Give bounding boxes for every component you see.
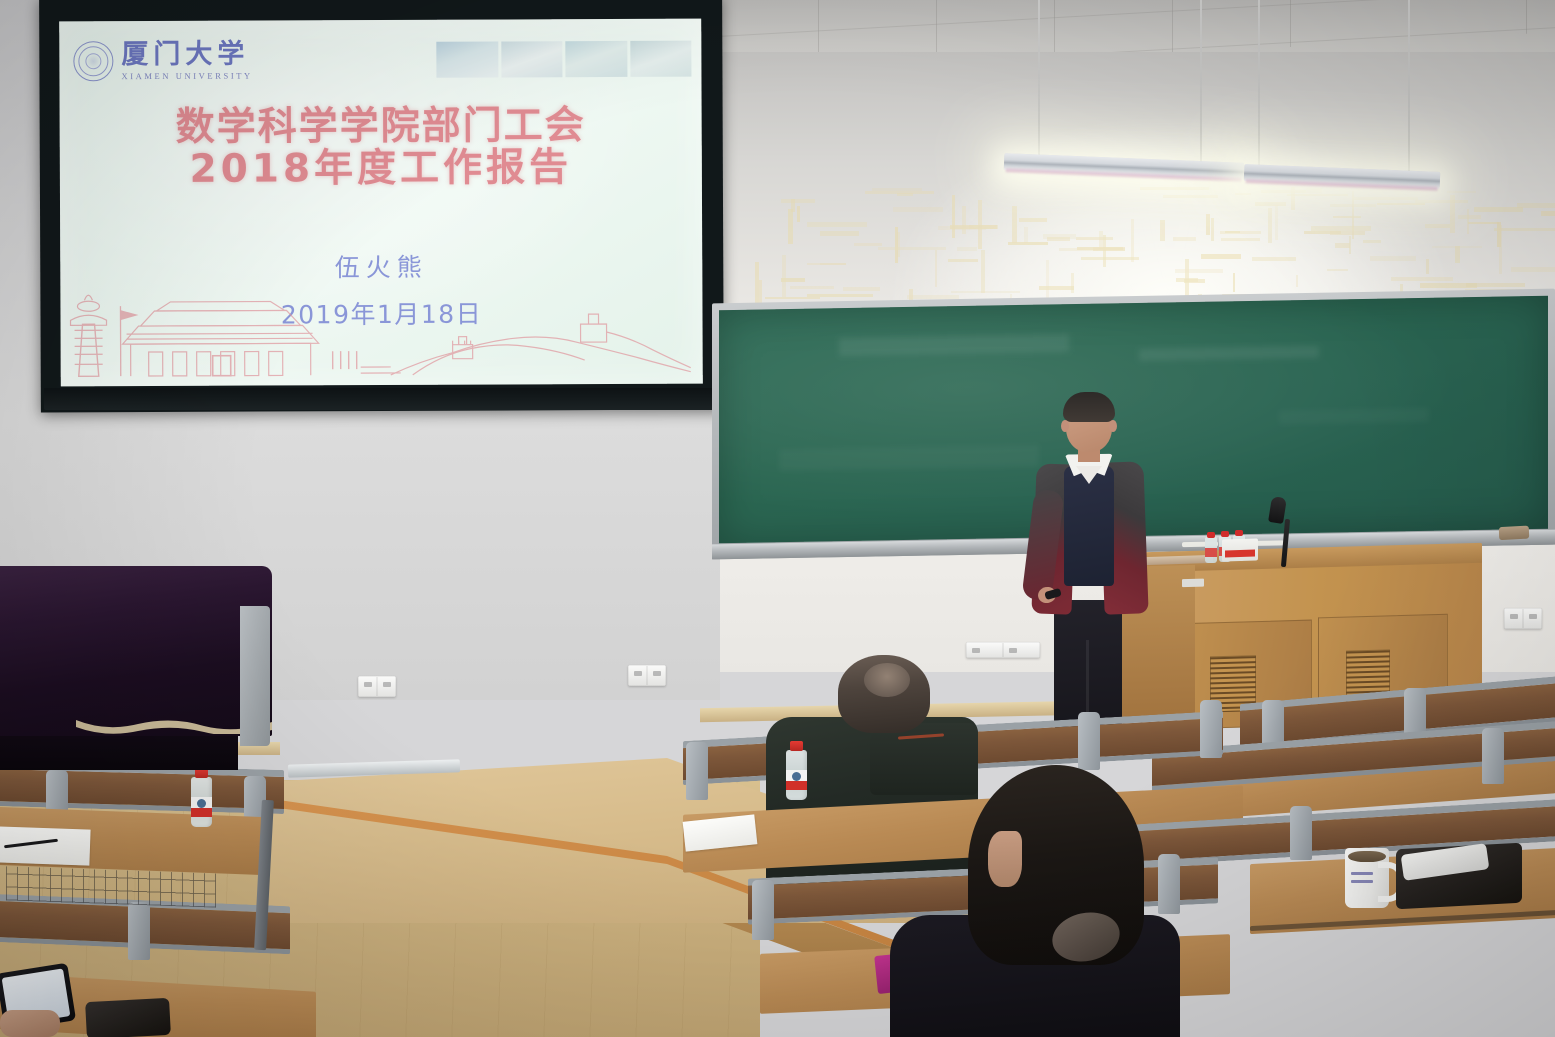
slide-artwork-landmarks bbox=[60, 276, 702, 387]
presenter-ear-right bbox=[1109, 420, 1117, 432]
power-outlet-right[interactable] bbox=[1504, 608, 1542, 629]
campus-photo-strip bbox=[436, 41, 691, 78]
wall-pattern-stroke bbox=[1275, 205, 1278, 240]
podium-label-plate bbox=[1182, 579, 1204, 588]
university-seal-icon bbox=[73, 41, 113, 81]
power-outlet-center[interactable] bbox=[628, 665, 666, 686]
wall-pattern-stroke bbox=[1377, 203, 1425, 205]
power-outlet-left[interactable] bbox=[358, 676, 396, 697]
wall-pattern-stroke bbox=[952, 195, 955, 238]
wall-pattern-stroke bbox=[950, 225, 997, 229]
bench-post bbox=[1200, 700, 1222, 758]
wall-pattern-stroke bbox=[957, 247, 977, 251]
wall-pattern-stroke bbox=[865, 191, 935, 195]
wall-pattern-stroke bbox=[1160, 220, 1164, 241]
wall-pattern-stroke bbox=[807, 263, 846, 265]
wall-pattern-stroke bbox=[1046, 260, 1049, 301]
wall-pattern-stroke bbox=[1474, 207, 1523, 212]
wall-pattern-stroke bbox=[1511, 267, 1555, 271]
bench-post bbox=[752, 880, 774, 940]
outlet-socket bbox=[628, 665, 647, 686]
wall-pattern-stroke bbox=[1494, 228, 1555, 231]
wall-pattern-stroke bbox=[797, 206, 800, 223]
slide-title: 数学科学学院部门工会 2018年度工作报告 bbox=[60, 105, 702, 192]
bench-post bbox=[1482, 728, 1504, 784]
wall-pattern-stroke bbox=[782, 255, 786, 297]
wall-pattern-stroke bbox=[935, 250, 937, 288]
outlet-socket bbox=[647, 665, 666, 686]
wall-pattern-stroke bbox=[1426, 259, 1429, 274]
light-rod-4 bbox=[1408, 0, 1410, 178]
wall-pattern-stroke bbox=[807, 222, 867, 227]
wall-pattern-stroke bbox=[1287, 194, 1348, 197]
wall-pattern-stroke bbox=[1081, 257, 1139, 259]
presenter-sweater bbox=[1064, 466, 1114, 586]
wall-pattern-stroke bbox=[962, 206, 967, 235]
wall-pattern-stroke bbox=[1291, 187, 1296, 210]
wall-pattern-stroke bbox=[893, 207, 943, 211]
bottle-label bbox=[786, 770, 807, 790]
wall-pattern-stroke bbox=[951, 291, 1020, 293]
outlet-socket bbox=[377, 676, 396, 697]
wall-pattern-stroke bbox=[759, 280, 762, 304]
wall-pattern-stroke bbox=[788, 209, 793, 244]
wall-pattern-stroke bbox=[1370, 256, 1416, 261]
wall-pattern-stroke bbox=[1176, 278, 1198, 282]
blackboard-eraser bbox=[1499, 526, 1529, 541]
lecture-hall-photo: 厦门大学 XIAMEN UNIVERSITY 数学科学学院部门工会 2018年度… bbox=[0, 0, 1555, 1037]
wall-pattern-stroke bbox=[1296, 275, 1298, 287]
wall-pattern-stroke bbox=[854, 243, 882, 246]
wall-pattern-stroke bbox=[948, 259, 978, 262]
man-bald-spot bbox=[864, 663, 910, 697]
wall-pattern-stroke bbox=[1012, 206, 1017, 244]
bench-post bbox=[686, 742, 708, 800]
campus-photo-4 bbox=[630, 41, 692, 77]
bottle-label bbox=[1205, 548, 1217, 557]
wall-pattern-stroke bbox=[1233, 273, 1235, 293]
wall-pattern-stroke bbox=[1261, 190, 1306, 193]
water-bottle-mid-desk bbox=[786, 750, 807, 800]
wall-pattern-stroke bbox=[1425, 224, 1449, 228]
wall-pattern-stroke bbox=[1349, 236, 1352, 254]
wall-pattern-stroke bbox=[1268, 208, 1272, 243]
wall-pattern-stroke bbox=[1252, 257, 1296, 262]
presenter bbox=[1018, 392, 1158, 732]
presentation-slide: 厦门大学 XIAMEN UNIVERSITY 数学科学学院部门工会 2018年度… bbox=[59, 19, 703, 387]
wall-pattern-stroke bbox=[1008, 242, 1048, 245]
wall-pattern-stroke bbox=[1327, 269, 1348, 271]
presenter-ear-left bbox=[1061, 420, 1069, 432]
tissue-box bbox=[1222, 538, 1258, 561]
wall-pattern-stroke bbox=[1093, 247, 1125, 251]
university-name-cn: 厦门大学 bbox=[121, 41, 252, 69]
wall-pattern-stroke bbox=[1140, 187, 1209, 190]
slide-title-line-1: 数学科学学院部门工会 bbox=[60, 105, 702, 150]
projection-screen-bottom-bar bbox=[44, 388, 722, 410]
wall-pattern-stroke bbox=[1335, 243, 1351, 247]
wall-pattern-stroke bbox=[1468, 222, 1499, 225]
university-logo: 厦门大学 XIAMEN UNIVERSITY bbox=[73, 41, 253, 82]
wall-pattern-stroke bbox=[1311, 226, 1371, 230]
wall-pattern-stroke bbox=[790, 286, 833, 289]
light-rod-3 bbox=[1258, 0, 1260, 170]
wall-pattern-stroke bbox=[1354, 197, 1417, 200]
university-name-en: XIAMEN UNIVERSITY bbox=[121, 71, 252, 82]
wall-pattern-stroke bbox=[807, 294, 873, 297]
woman-face bbox=[988, 831, 1022, 887]
wall-pattern-stroke bbox=[1455, 246, 1460, 264]
wall-pattern-stroke bbox=[1541, 211, 1555, 216]
wall-pattern-stroke bbox=[978, 200, 982, 250]
presenter-hair bbox=[1063, 392, 1115, 422]
wall-pattern-stroke bbox=[1363, 240, 1382, 243]
wall-pattern-stroke bbox=[1221, 238, 1260, 242]
water-bottle-left-desk bbox=[191, 777, 212, 827]
bottle-cap bbox=[790, 741, 803, 751]
bench-post bbox=[128, 902, 150, 960]
wall-pattern-stroke bbox=[895, 227, 898, 263]
wall-pattern-stroke bbox=[1333, 216, 1361, 218]
wall-pattern-stroke bbox=[1211, 218, 1214, 241]
light-rod-1 bbox=[1038, 0, 1040, 160]
bench-book-basket bbox=[6, 866, 216, 907]
wall-pattern-stroke bbox=[1175, 269, 1224, 273]
hand-holding-phone bbox=[0, 1010, 60, 1037]
audience-member-seated-woman bbox=[880, 765, 1180, 1037]
wall-pattern-stroke bbox=[1306, 188, 1322, 193]
wall-pattern-stroke bbox=[1225, 231, 1240, 233]
coffee-mug bbox=[1345, 848, 1389, 908]
wall-pattern-stroke bbox=[981, 250, 985, 293]
wall-pattern-stroke bbox=[1173, 237, 1195, 241]
wall-pattern-stroke bbox=[1466, 283, 1525, 287]
podium-bottle-1 bbox=[1205, 537, 1217, 563]
outlet-socket bbox=[358, 676, 377, 697]
wall-pattern-stroke bbox=[1467, 209, 1469, 234]
wall-pattern-stroke bbox=[1019, 218, 1047, 223]
wall-pattern-stroke bbox=[781, 278, 805, 282]
light-rod-2 bbox=[1200, 0, 1202, 166]
wall-pattern-stroke bbox=[820, 231, 859, 235]
bench-post bbox=[1290, 806, 1312, 860]
wall-pattern-stroke bbox=[1047, 237, 1069, 241]
wall-pattern-stroke bbox=[1499, 225, 1502, 274]
campus-photo-2 bbox=[501, 41, 563, 77]
black-case-foreground bbox=[85, 998, 171, 1037]
outlet-socket bbox=[1523, 608, 1542, 629]
wall-pattern-stroke bbox=[1076, 237, 1113, 240]
covered-piano bbox=[0, 566, 272, 766]
wall-pattern-stroke bbox=[843, 287, 880, 291]
slide-title-line-2: 2018年度工作报告 bbox=[60, 147, 702, 192]
wall-pattern-stroke bbox=[1447, 191, 1476, 193]
wall-pattern-stroke bbox=[1235, 193, 1251, 196]
bottle-label bbox=[191, 797, 212, 817]
wall-pattern-stroke bbox=[1255, 202, 1286, 205]
wall-pattern-stroke bbox=[1450, 195, 1455, 233]
piano-side-frame bbox=[240, 606, 270, 746]
wall-pattern-stroke bbox=[781, 199, 815, 202]
wall-pattern-stroke bbox=[1039, 286, 1074, 291]
campus-photo-3 bbox=[565, 41, 627, 77]
outlet-socket bbox=[1504, 608, 1523, 629]
mug-print bbox=[1351, 872, 1373, 875]
wall-pattern-stroke bbox=[1201, 254, 1242, 258]
wall-pattern-stroke bbox=[1391, 277, 1452, 281]
wall-pattern-stroke bbox=[1163, 195, 1218, 197]
campus-photo-1 bbox=[436, 41, 498, 77]
wall-pattern-stroke bbox=[1330, 231, 1366, 235]
wall-decorative-pattern bbox=[750, 186, 1555, 304]
bench-post bbox=[1078, 712, 1100, 770]
wall-pattern-stroke bbox=[1131, 219, 1134, 261]
wall-pattern-stroke bbox=[1206, 214, 1210, 235]
piano-velvet-cover bbox=[0, 566, 272, 736]
